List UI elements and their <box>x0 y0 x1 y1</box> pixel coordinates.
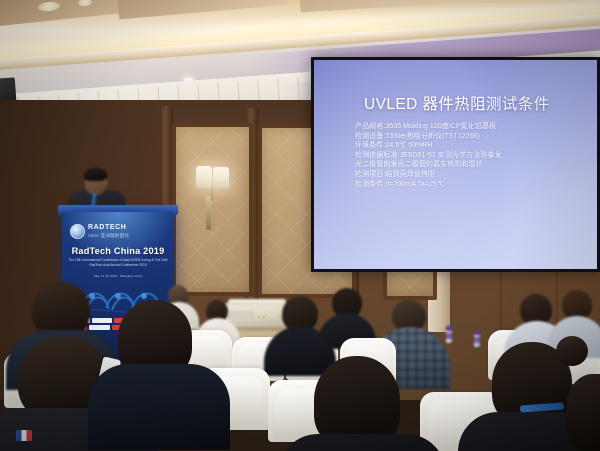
podium-brand-name: RADTECH <box>88 224 126 231</box>
sconce-backplate <box>206 196 211 230</box>
slide-line: 检测设备:T3Ster热阻分析仪(TST12266) <box>355 132 585 142</box>
slide-line: 光二极管的发光二极管的真实热阻和现状 <box>355 160 585 170</box>
podium-logo-row: RADTECH ASIA 亚洲辐射固化 <box>70 224 166 239</box>
wall-fabric-panel <box>172 123 253 296</box>
conference-photo: UVLED 器件热阻测试条件 产品规格:3535 Molding 120度ICP… <box>0 0 600 451</box>
water-bottle <box>474 330 480 347</box>
sconce-arm <box>211 188 213 200</box>
slide-line: 检测条件:If=700mA Ta=25℃ <box>355 180 585 190</box>
water-bottle <box>446 326 452 343</box>
sconce-shade <box>196 166 212 188</box>
radtech-emblem-icon <box>70 224 85 239</box>
podium-event-title: RadTech China 2019 <box>62 246 174 256</box>
projection-screen: UVLED 器件热阻测试条件 产品规格:3535 Molding 120度ICP… <box>311 57 600 272</box>
lapel-flag-badge <box>16 430 32 441</box>
projector-status-led <box>258 316 260 318</box>
slide-line: 产品规格:3535 Molding 120度ICP氮化铝基板 <box>355 122 585 132</box>
slide-line: 检测依据标准:JESD51-51 实测光学方法测量发 <box>355 151 585 161</box>
projector-status-led <box>263 316 265 318</box>
slide-line: 环境条件:24.5℃ 50%RH <box>355 141 585 151</box>
slide-line: 检测项目:结到壳焊盘热阻 <box>355 170 585 180</box>
podium-event-date: May 13–15, 2019 · Shanghai, China <box>68 274 168 278</box>
podium-brand-sub: ASIA 亚洲辐射固化 <box>88 232 129 239</box>
podium-brand: RADTECH ASIA 亚洲辐射固化 <box>88 224 129 239</box>
presenter-ear <box>103 179 108 186</box>
hair-bun <box>556 336 588 366</box>
slide-title: UVLED 器件热阻测试条件 <box>364 92 584 114</box>
sconce-shade <box>213 167 229 189</box>
slide-surface: UVLED 器件热阻测试条件 产品规格:3535 Molding 120度ICP… <box>314 60 597 269</box>
podium-event-subtitle: The 19th International Conference of Asi… <box>68 258 168 267</box>
projector-top-panel <box>228 299 286 305</box>
slide-body: 产品规格:3535 Molding 120度ICP氮化铝基板 检测设备:T3St… <box>355 122 585 189</box>
projector-vent <box>230 311 252 320</box>
ceiling-coffer <box>0 0 121 27</box>
